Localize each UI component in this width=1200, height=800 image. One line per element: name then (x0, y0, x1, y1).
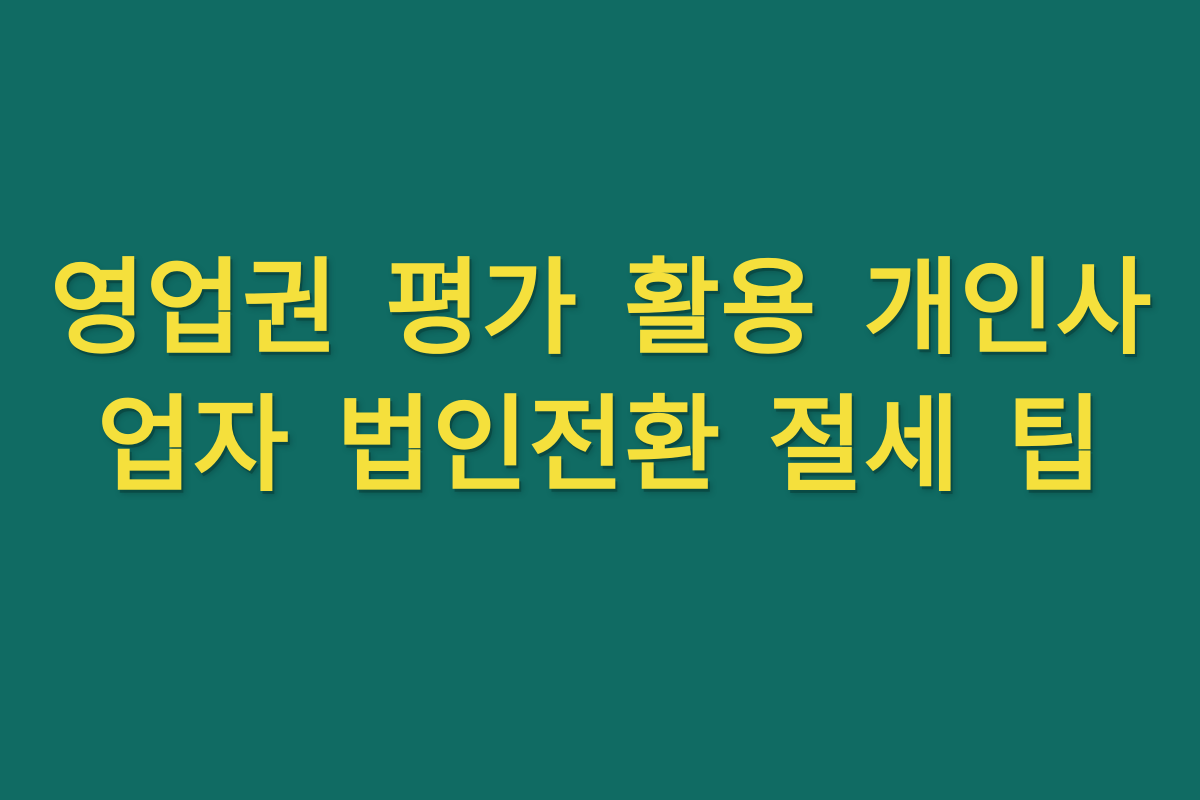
page-title: 영업권 평가 활용 개인사 업자 법인전환 절세 팁 (50, 240, 1150, 514)
title-line-2: 업자 법인전환 절세 팁 (50, 377, 1150, 514)
title-line-1: 영업권 평가 활용 개인사 (50, 240, 1150, 377)
thumbnail-banner: 영업권 평가 활용 개인사 업자 법인전환 절세 팁 (0, 0, 1200, 800)
